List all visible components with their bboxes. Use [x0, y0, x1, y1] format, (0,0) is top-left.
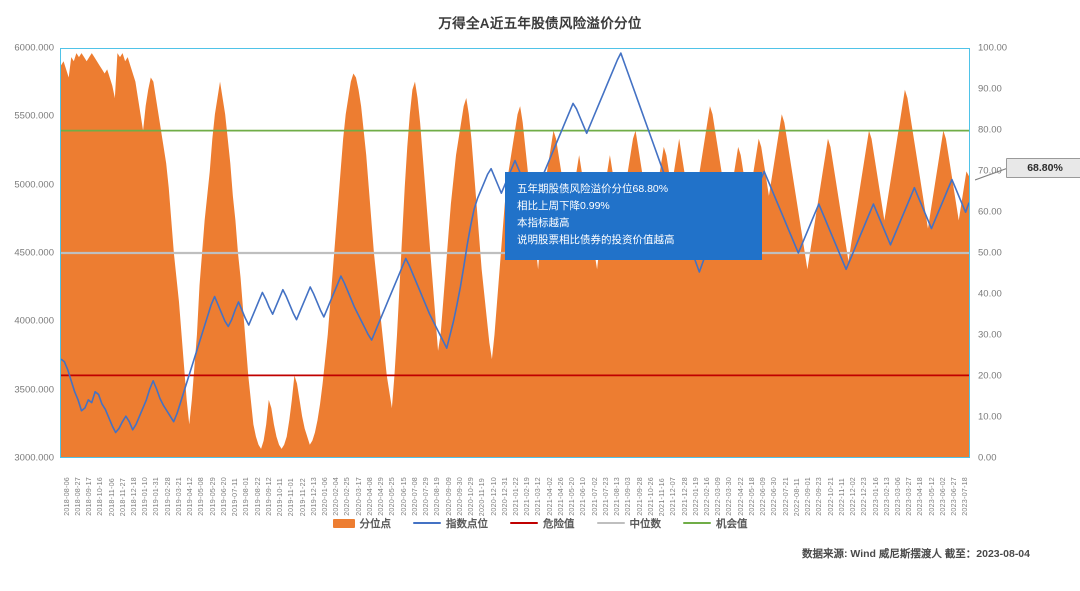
- x-axis-tick: 2021-02-19: [522, 477, 531, 516]
- annotation-line-4: 说明股票相比债券的投资价值越高: [517, 232, 750, 249]
- x-axis-tick: 2019-06-20: [219, 477, 228, 516]
- x-axis-tick: 2020-02-04: [331, 477, 340, 516]
- x-axis-tick: 2019-04-12: [185, 477, 194, 516]
- x-axis-tick: 2019-01-31: [151, 477, 160, 516]
- x-axis-tick: 2022-05-18: [747, 477, 756, 516]
- legend-swatch-icon: [413, 522, 441, 525]
- x-axis-tick: 2021-07-23: [601, 477, 610, 516]
- x-axis-tick: 2020-06-15: [399, 477, 408, 516]
- x-axis-tick: 2020-11-19: [477, 478, 486, 516]
- legend-label: 危险值: [543, 516, 575, 531]
- x-axis-tick: 2019-11-22: [298, 478, 307, 516]
- x-axis-tick: 2019-12-13: [309, 477, 318, 516]
- x-axis-tick: 2019-02-28: [163, 477, 172, 516]
- x-axis-tick: 2022-06-09: [758, 477, 767, 516]
- x-axis-tick: 2019-03-21: [174, 477, 183, 516]
- legend-label: 机会值: [716, 516, 748, 531]
- x-axis-tick: 2021-08-13: [612, 477, 621, 516]
- x-axis-tick: 2020-10-29: [466, 477, 475, 516]
- chart-title: 万得全A近五年股债风险溢价分位: [0, 12, 1080, 32]
- legend-item-中位数[interactable]: 中位数: [597, 516, 662, 531]
- x-axis-tick: 2023-06-02: [938, 477, 947, 516]
- x-axis-tick: 2023-06-27: [949, 477, 958, 516]
- x-axis-tick: 2022-06-30: [769, 477, 778, 516]
- x-axis-tick: 2022-04-22: [736, 477, 745, 516]
- x-axis-tick: 2018-08-27: [73, 477, 82, 516]
- y-axis-right-tick: 30.00: [978, 330, 1002, 340]
- x-axis-tick: 2020-07-29: [421, 477, 430, 516]
- y-axis-right-tick: 80.00: [978, 125, 1002, 135]
- x-axis-tick: 2021-06-10: [578, 477, 587, 516]
- x-axis-tick: 2019-01-10: [140, 477, 149, 516]
- y-axis-right-tick: 100.00: [978, 43, 1007, 53]
- x-axis-tick: 2020-01-06: [320, 477, 329, 516]
- x-axis-tick: 2018-11-06: [107, 478, 116, 516]
- x-axis-tick: 2023-05-12: [927, 477, 936, 516]
- x-axis-tick: 2021-01-22: [511, 477, 520, 516]
- x-axis-tick: 2020-08-19: [432, 477, 441, 516]
- x-axis-tick: 2023-02-13: [882, 477, 891, 516]
- y-axis-left-tick: 4000.000: [14, 317, 54, 327]
- x-axis-tick: 2023-04-18: [915, 477, 924, 516]
- annotation-line-3: 本指标越高: [517, 215, 750, 232]
- chart-legend: 分位点指数点位危险值中位数机会值: [0, 512, 1080, 534]
- x-axis-tick: 2023-01-16: [871, 477, 880, 516]
- annotation-callout: 五年期股债风险溢价分位68.80%相比上周下降0.99%本指标越高说明股票相比债…: [505, 172, 762, 260]
- x-axis-tick: 2020-12-10: [489, 477, 498, 516]
- x-axis-tick: 2021-07-02: [590, 477, 599, 516]
- legend-label: 指数点位: [446, 516, 488, 531]
- data-source-footer: 数据来源: Wind 威尼斯摆渡人 截至：2023-08-04: [0, 546, 1030, 561]
- x-axis-tick: 2019-05-29: [208, 477, 217, 516]
- annotation-line-1: 五年期股债风险溢价分位68.80%: [517, 181, 750, 198]
- x-axis-tick: 2021-09-28: [635, 477, 644, 516]
- y-axis-right-tick: 20.00: [978, 371, 1002, 381]
- x-axis-tick: 2022-02-16: [702, 477, 711, 516]
- x-axis-tick: 2019-08-01: [241, 477, 250, 516]
- x-axis-tick: 2020-04-29: [376, 477, 385, 516]
- legend-item-分位点[interactable]: 分位点: [333, 516, 392, 531]
- y-axis-right: 0.0010.0020.0030.0040.0050.0060.0070.008…: [978, 48, 1048, 458]
- x-axis-tick: 2021-04-26: [556, 477, 565, 516]
- y-axis-right-tick: 0.00: [978, 453, 997, 463]
- x-axis-tick: 2021-09-03: [623, 477, 632, 516]
- x-axis-tick: 2018-11-27: [118, 478, 127, 516]
- callout-leader-line: [975, 160, 1009, 182]
- x-axis-tick: 2022-08-11: [792, 478, 801, 516]
- x-axis-tick: 2023-03-27: [904, 477, 913, 516]
- x-axis-tick: 2020-07-08: [410, 477, 419, 516]
- annotation-line-2: 相比上周下降0.99%: [517, 198, 750, 215]
- legend-label: 中位数: [630, 516, 662, 531]
- legend-swatch-icon: [510, 522, 538, 525]
- legend-swatch-icon: [333, 519, 355, 528]
- x-axis-tick: 2022-03-30: [724, 477, 733, 516]
- x-axis-tick: 2020-02-25: [342, 477, 351, 516]
- x-axis-tick: 2019-05-08: [196, 477, 205, 516]
- x-axis-tick: 2018-12-18: [129, 477, 138, 516]
- x-axis: 2018-08-062018-08-272018-09-172018-10-16…: [60, 460, 970, 516]
- x-axis-tick: 2021-11-16: [657, 478, 666, 516]
- x-axis-tick: 2020-05-25: [387, 477, 396, 516]
- x-axis-tick: 2020-09-09: [444, 477, 453, 516]
- x-axis-tick: 2019-07-11: [230, 478, 239, 516]
- chart-root: 万得全A近五年股债风险溢价分位 3000.0003500.0004000.000…: [0, 0, 1080, 591]
- x-axis-tick: 2020-03-17: [354, 477, 363, 516]
- x-axis-tick: 2021-04-02: [545, 477, 554, 516]
- x-axis-tick: 2022-10-21: [826, 477, 835, 516]
- x-axis-tick: 2022-12-23: [859, 477, 868, 516]
- y-axis-right-tick: 90.00: [978, 84, 1002, 94]
- last-value-callout: 68.80%: [1006, 158, 1080, 178]
- x-axis-tick: 2020-09-30: [455, 477, 464, 516]
- y-axis-right-tick: 60.00: [978, 207, 1002, 217]
- x-axis-tick: 2022-11-11: [837, 478, 846, 516]
- y-axis-left-tick: 6000.000: [14, 43, 54, 53]
- x-axis-tick: 2021-03-12: [533, 477, 542, 516]
- x-axis-tick: 2022-07-21: [781, 477, 790, 516]
- legend-label: 分位点: [360, 516, 392, 531]
- x-axis-tick: 2021-10-26: [646, 477, 655, 516]
- y-axis-left: 3000.0003500.0004000.0004500.0005000.000…: [0, 48, 54, 458]
- x-axis-tick: 2021-05-20: [567, 477, 576, 516]
- legend-item-机会值[interactable]: 机会值: [683, 516, 748, 531]
- y-axis-right-tick: 10.00: [978, 412, 1002, 422]
- x-axis-tick: 2019-09-12: [264, 477, 273, 516]
- x-axis-tick: 2019-11-01: [286, 478, 295, 516]
- x-axis-tick: 2018-08-06: [62, 477, 71, 516]
- x-axis-tick: 2020-04-08: [365, 477, 374, 516]
- x-axis-tick: 2022-09-01: [803, 477, 812, 516]
- x-axis-tick: 2022-01-19: [691, 477, 700, 516]
- x-axis-tick: 2023-03-06: [893, 477, 902, 516]
- x-axis-tick: 2022-09-23: [814, 477, 823, 516]
- x-axis-tick: 2021-12-28: [680, 477, 689, 516]
- legend-swatch-icon: [683, 522, 711, 525]
- x-axis-tick: 2022-12-02: [848, 477, 857, 516]
- legend-item-危险值[interactable]: 危险值: [510, 516, 575, 531]
- y-axis-left-tick: 5000.000: [14, 180, 54, 190]
- y-axis-left-tick: 3000.000: [14, 453, 54, 463]
- x-axis-tick: 2023-07-18: [960, 477, 969, 516]
- y-axis-left-tick: 3500.000: [14, 385, 54, 395]
- x-axis-tick: 2019-10-11: [275, 478, 284, 516]
- legend-item-指数点位[interactable]: 指数点位: [413, 516, 488, 531]
- y-axis-left-tick: 5500.000: [14, 112, 54, 122]
- y-axis-right-tick: 50.00: [978, 248, 1002, 258]
- legend-swatch-icon: [597, 522, 625, 525]
- x-axis-tick: 2018-10-16: [95, 477, 104, 516]
- x-axis-tick: 2022-03-09: [713, 477, 722, 516]
- x-axis-tick: 2019-08-22: [253, 477, 262, 516]
- x-axis-tick: 2021-12-07: [668, 477, 677, 516]
- y-axis-left-tick: 4500.000: [14, 248, 54, 258]
- y-axis-right-tick: 40.00: [978, 289, 1002, 299]
- x-axis-tick: 2018-09-17: [84, 477, 93, 516]
- x-axis-tick: 2020-12-31: [500, 477, 509, 516]
